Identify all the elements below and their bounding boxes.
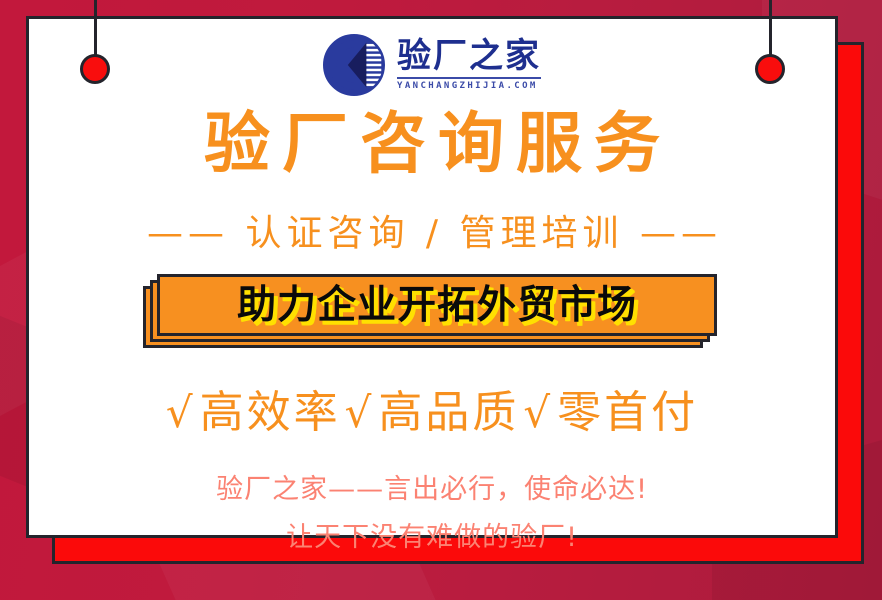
check-icon: √ xyxy=(521,388,555,437)
check-icon: √ xyxy=(343,388,377,437)
feature-item-2: 零首付 xyxy=(555,387,700,438)
ornament-ball-icon xyxy=(755,54,785,84)
page-title: 验厂咨询服务 xyxy=(26,108,838,181)
banner-layer-front: 助力企业开拓外贸市场 xyxy=(157,274,717,336)
brand-website: YANCHANGZHIJIA.COM xyxy=(397,81,541,91)
company-circle-logo-icon xyxy=(323,34,385,96)
promo-poster: 验厂之家 YANCHANGZHIJIA.COM 验厂咨询服务 —— 认证咨询 /… xyxy=(0,0,882,600)
ornament-ball-icon xyxy=(80,54,110,84)
slogan-secondary: 让天下没有难做的验厂! xyxy=(26,522,838,554)
brand-divider xyxy=(397,77,541,79)
feature-list: √高效率√高品质√零首付 xyxy=(26,388,838,439)
brand-text-block: 验厂之家 YANCHANGZHIJIA.COM xyxy=(397,39,541,91)
page-subtitle: —— 认证咨询 / 管理培训 —— xyxy=(26,212,838,255)
check-icon: √ xyxy=(164,388,198,437)
slogan-primary: 验厂之家——言出必行，使命必达! xyxy=(26,474,838,506)
feature-item-1: 高品质 xyxy=(376,387,521,438)
highlight-banner: 助力企业开拓外贸市场 xyxy=(26,264,838,364)
banner-text: 助力企业开拓外贸市场 xyxy=(237,286,637,325)
poster-content: 验厂之家 YANCHANGZHIJIA.COM 验厂咨询服务 —— 认证咨询 /… xyxy=(26,16,838,538)
brand-name: 验厂之家 xyxy=(397,39,541,75)
feature-item-0: 高效率 xyxy=(198,387,343,438)
brand-logo: 验厂之家 YANCHANGZHIJIA.COM xyxy=(26,34,838,96)
